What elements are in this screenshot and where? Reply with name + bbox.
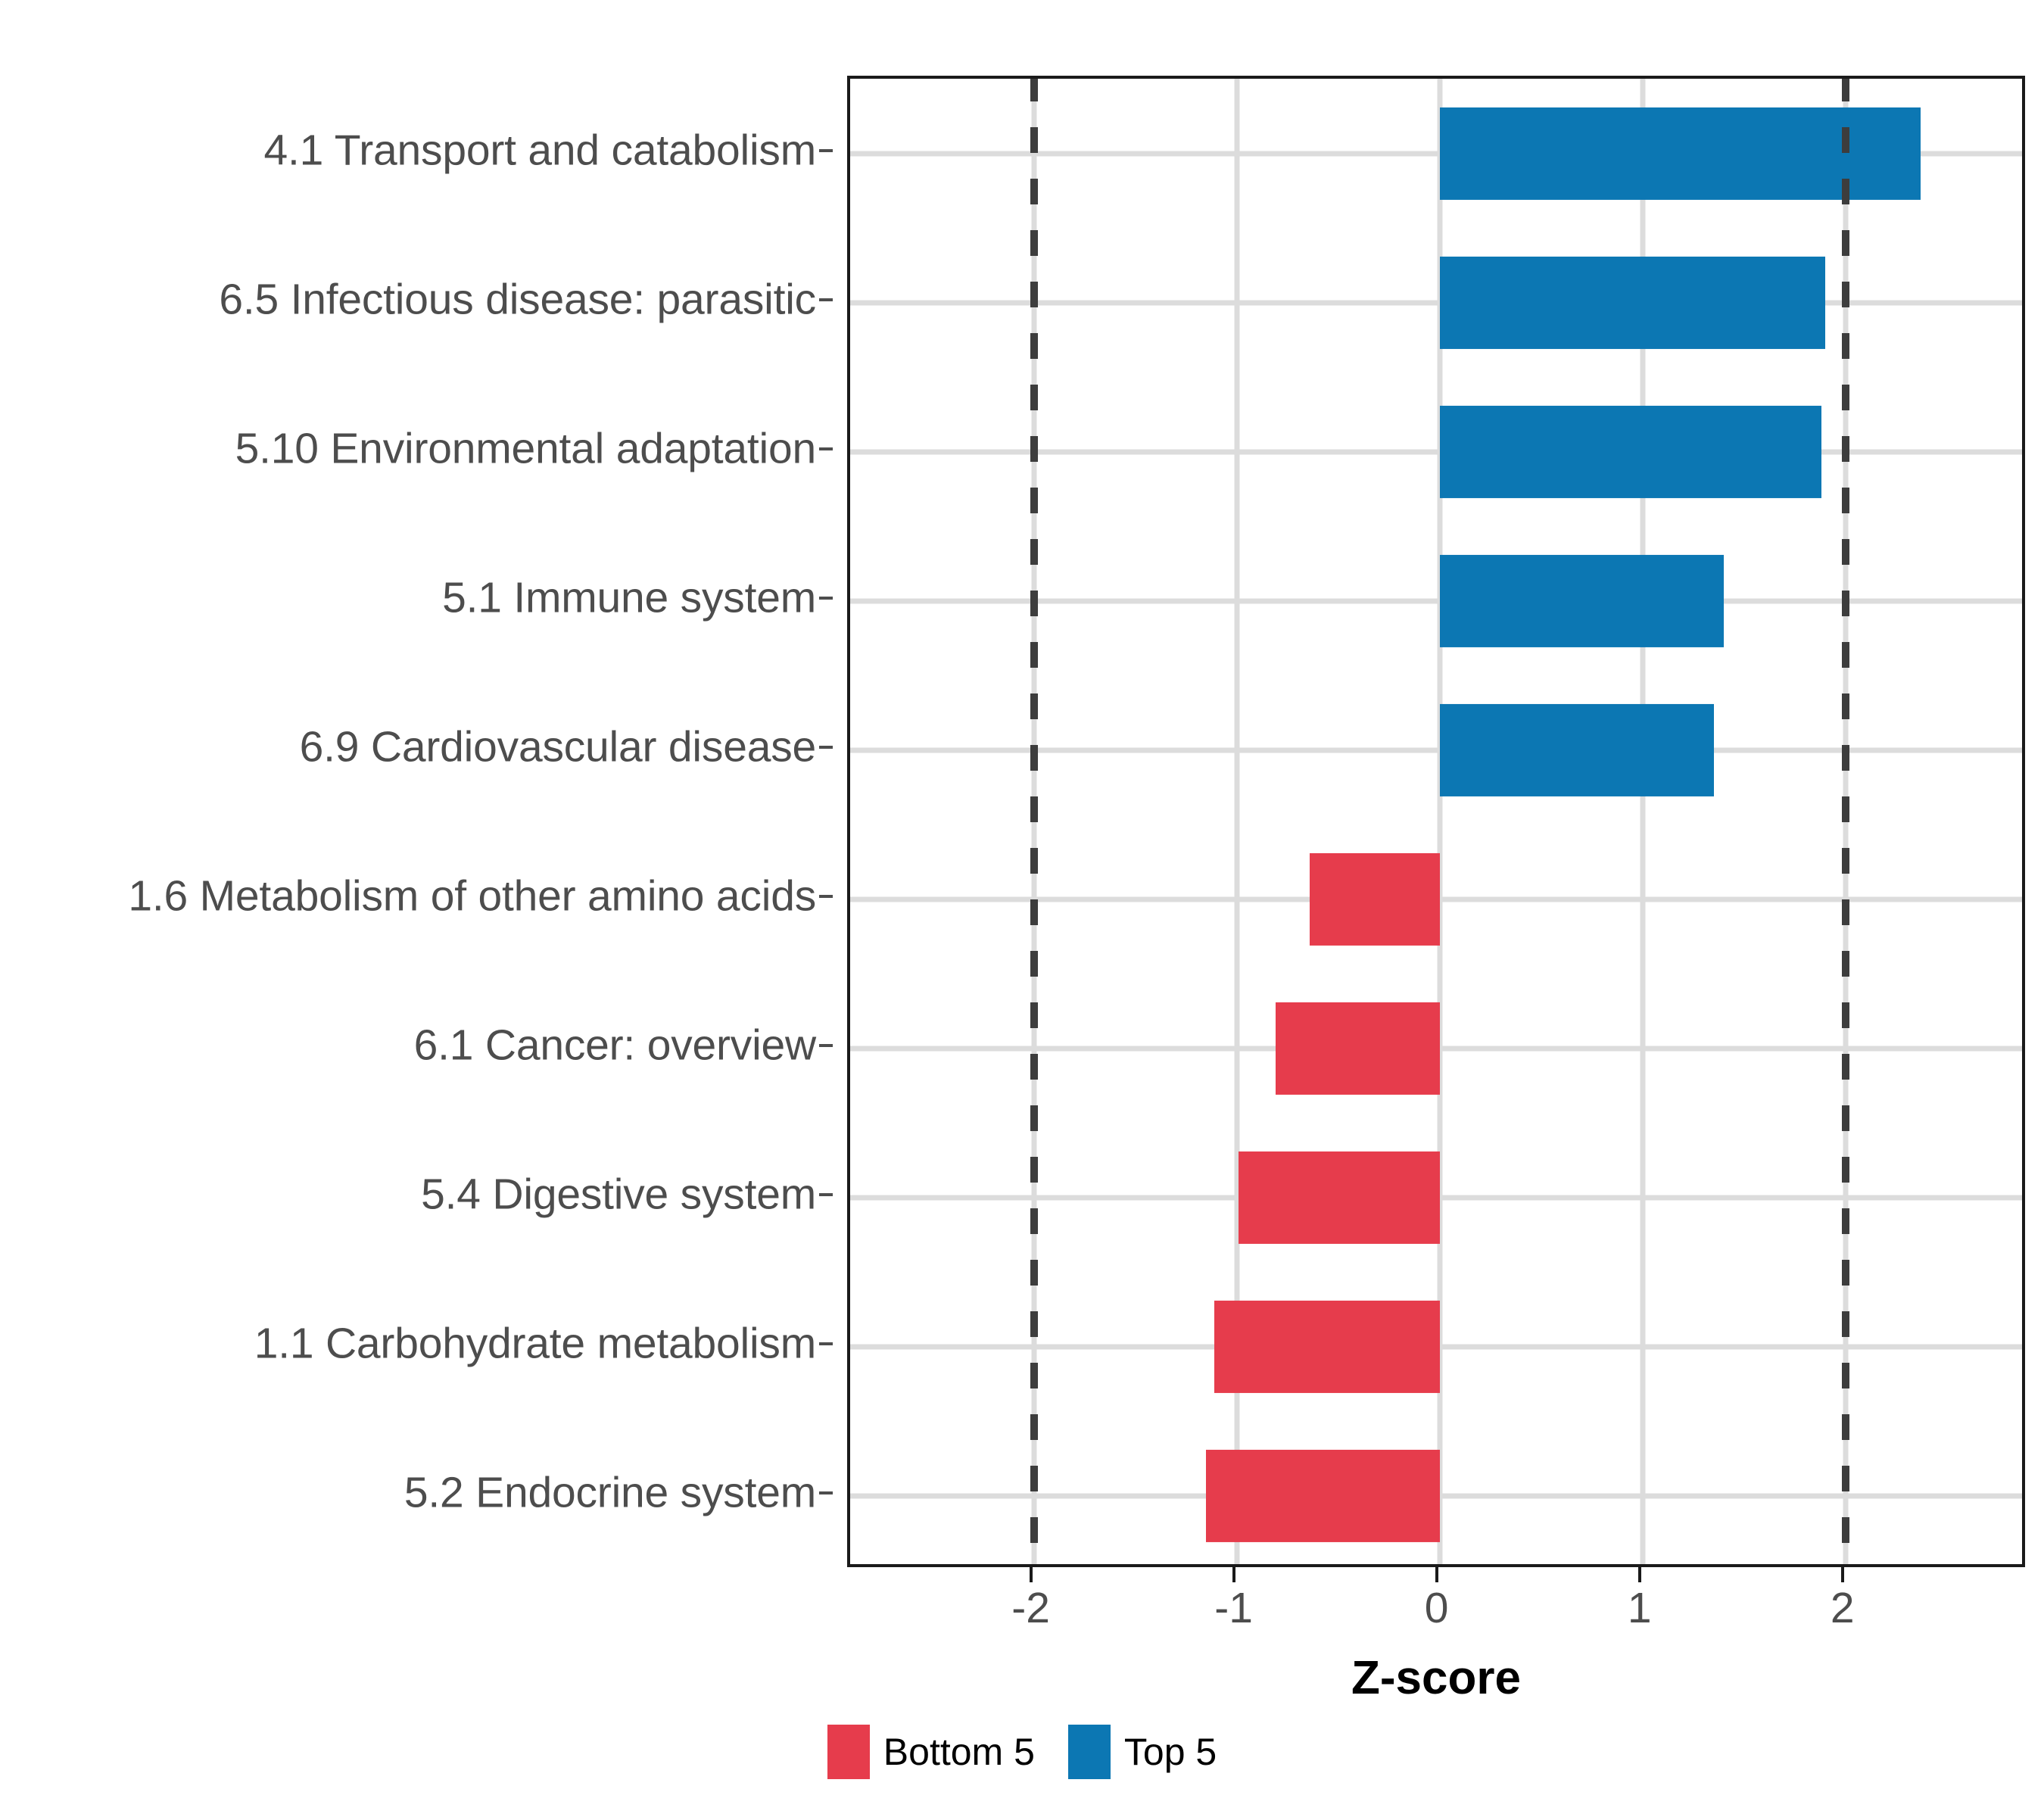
y-axis-tick-label: 5.1 Immune system <box>442 576 816 619</box>
legend-label: Bottom 5 <box>883 1733 1035 1771</box>
x-axis-tick-mark <box>1435 1567 1438 1582</box>
bar[interactable] <box>1276 1002 1440 1094</box>
x-axis-tick-mark <box>1638 1567 1641 1582</box>
legend-label: Top 5 <box>1124 1733 1217 1771</box>
y-axis-tick-label: 6.1 Cancer: overview <box>414 1024 816 1067</box>
x-axis-tick-mark <box>1232 1567 1235 1582</box>
bar[interactable] <box>1440 703 1714 796</box>
y-axis-tick-label: 5.4 Digestive system <box>421 1173 816 1216</box>
bar[interactable] <box>1239 1151 1439 1243</box>
y-axis-tick-mark <box>819 1044 833 1047</box>
y-axis-tick-mark <box>819 447 833 450</box>
legend-item[interactable]: Top 5 <box>1068 1725 1217 1779</box>
reference-line <box>1030 76 1038 1567</box>
x-axis-tick-label: -2 <box>1011 1587 1050 1630</box>
legend-item[interactable]: Bottom 5 <box>827 1725 1035 1779</box>
y-axis-labels: 4.1 Transport and catabolism6.5 Infectio… <box>0 76 833 1567</box>
y-axis-tick-label: 4.1 Transport and catabolism <box>264 129 816 172</box>
bar[interactable] <box>1206 1449 1439 1541</box>
y-axis-tick-label: 6.5 Infectious disease: parasitic <box>219 278 816 321</box>
x-axis-title: Z-score <box>847 1655 2025 1702</box>
bar[interactable] <box>1440 405 1821 497</box>
x-axis-tick-label: -1 <box>1214 1587 1253 1630</box>
y-axis-tick-mark <box>819 746 833 749</box>
reference-line <box>1842 76 1849 1567</box>
y-axis-tick-label: 5.10 Environmental adaptation <box>235 427 816 470</box>
y-axis-tick-label: 5.2 Endocrine system <box>404 1471 816 1514</box>
y-axis-tick-mark <box>819 597 833 600</box>
bar[interactable] <box>1440 554 1724 647</box>
y-axis-tick-mark <box>819 1342 833 1345</box>
x-axis-tick-label: 2 <box>1831 1587 1855 1630</box>
x-axis-tick-mark <box>1841 1567 1844 1582</box>
y-axis-tick-label: 1.1 Carbohydrate metabolism <box>254 1322 816 1365</box>
y-axis-tick-mark <box>819 1491 833 1494</box>
y-axis-tick-mark <box>819 1193 833 1196</box>
y-axis-tick-mark <box>819 149 833 152</box>
bar[interactable] <box>1440 256 1825 348</box>
y-axis-tick-mark <box>819 895 833 898</box>
chart-legend: Bottom 5Top 5 <box>0 1725 2044 1779</box>
bar[interactable] <box>1214 1300 1440 1392</box>
x-axis-tick-label: 1 <box>1628 1587 1652 1630</box>
plot-panel <box>847 76 2025 1567</box>
x-axis-tick-mark <box>1030 1567 1033 1582</box>
legend-swatch-icon <box>1068 1725 1111 1779</box>
bar[interactable] <box>1310 852 1440 945</box>
y-axis-tick-mark <box>819 298 833 301</box>
legend-swatch-icon <box>827 1725 870 1779</box>
x-axis-tick-label: 0 <box>1425 1587 1449 1630</box>
x-axis: -2-1012 <box>847 1567 2025 1666</box>
zscore-bar-chart-figure: 4.1 Transport and catabolism6.5 Infectio… <box>0 0 2044 1817</box>
y-axis-tick-label: 1.6 Metabolism of other amino acids <box>128 874 816 918</box>
y-axis-tick-label: 6.9 Cardiovascular disease <box>300 725 816 768</box>
